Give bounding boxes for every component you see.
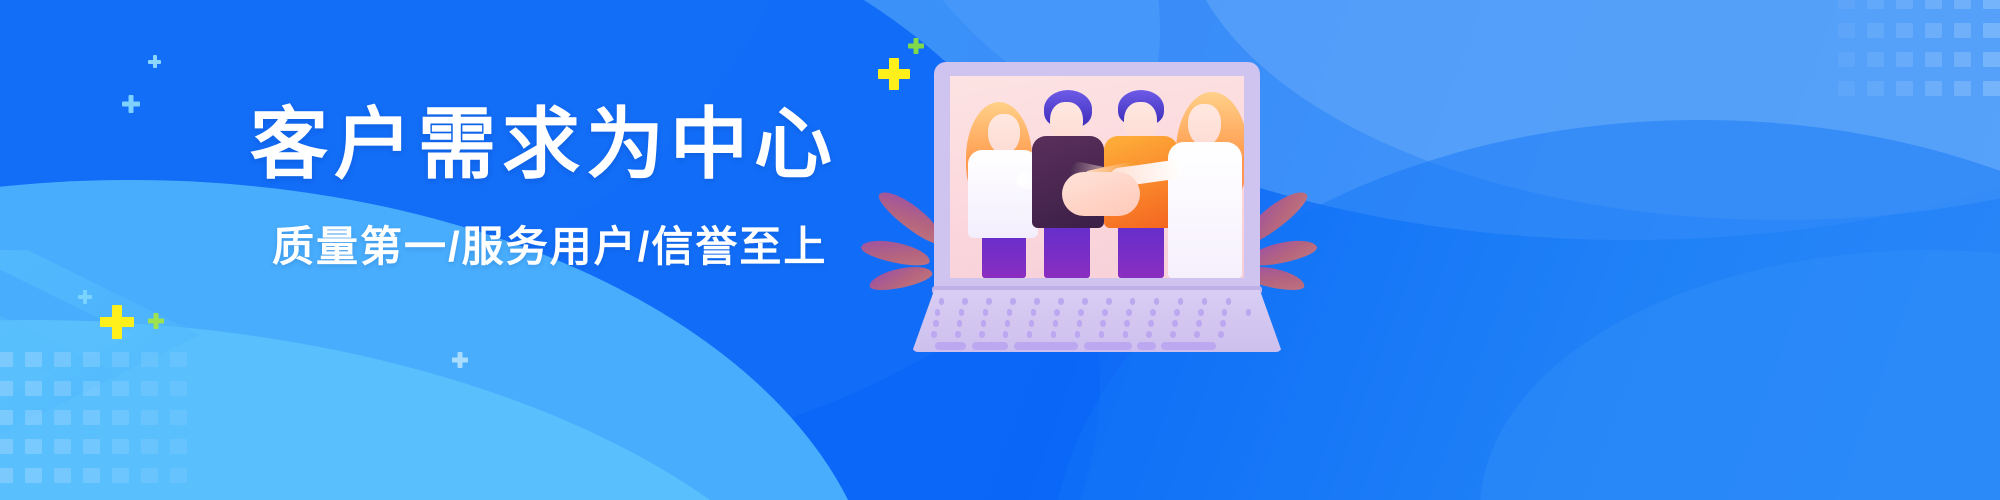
keyboard-key <box>935 342 966 350</box>
cyan-plus-icon <box>122 95 140 113</box>
keyboard-key <box>1106 298 1112 305</box>
keyboard-key <box>1174 309 1180 316</box>
keyboard-key <box>1099 331 1105 338</box>
person-woman-right <box>1162 82 1244 278</box>
keyboard-key <box>983 309 989 316</box>
keyboard-key <box>972 342 1009 350</box>
keyboard-key <box>981 320 987 327</box>
laptop-screen <box>950 76 1244 278</box>
keyboard-key <box>1161 342 1216 350</box>
keyboard-key <box>1130 298 1136 305</box>
yellow-plus-icon <box>100 305 134 339</box>
keyboard-key <box>1075 331 1081 338</box>
keyboard-key <box>1194 331 1200 338</box>
keyboard-key <box>1123 331 1129 338</box>
stacked-hands <box>1062 172 1140 216</box>
keyboard-key <box>1126 309 1132 316</box>
keyboard-key <box>979 331 985 338</box>
keyboard-key <box>1178 298 1184 305</box>
keyboard-key <box>1027 331 1033 338</box>
blue-wave-shape <box>1480 250 2000 500</box>
keyboard-key <box>1222 309 1228 316</box>
light-plus-icon <box>452 352 468 368</box>
keyboard-key <box>935 309 941 316</box>
banner-headline: 客户需求为中心 <box>250 105 1010 183</box>
keyboard-key <box>1154 298 1160 305</box>
keyboard-key <box>931 331 937 338</box>
keyboard-key <box>1202 298 1208 305</box>
keyboard-key <box>1172 320 1178 327</box>
square-dot-grid <box>1838 0 2000 114</box>
keyboard-key <box>1014 342 1078 350</box>
keyboard-key <box>1124 320 1130 327</box>
keyboard-key <box>1148 320 1154 327</box>
keyboard-key <box>1031 309 1037 316</box>
person-face <box>988 114 1020 154</box>
keyboard-key <box>1196 320 1202 327</box>
square-dot-grid <box>0 352 196 500</box>
keyboard-key <box>939 298 945 305</box>
laptop-keyboard <box>912 290 1282 352</box>
keyboard-key <box>1005 320 1011 327</box>
keyboard-key <box>1034 298 1040 305</box>
keyboard-key <box>1084 342 1132 350</box>
keyboard-key <box>1150 309 1156 316</box>
cyan-plus-icon <box>148 55 161 68</box>
green-plus-icon <box>908 38 924 54</box>
keyboard-key <box>957 320 963 327</box>
keyboard-key <box>1082 298 1088 305</box>
keyboard-key <box>1226 298 1232 305</box>
keyboard-key <box>1246 309 1252 316</box>
laptop-lid <box>934 62 1260 292</box>
keyboard-key <box>1003 331 1009 338</box>
yellow-plus-icon <box>878 58 910 90</box>
keyboard-key <box>959 309 965 316</box>
keyboard-key <box>1053 320 1059 327</box>
keyboard-key <box>986 298 992 305</box>
keyboard-key <box>1218 331 1224 338</box>
keyboard-key <box>1078 309 1084 316</box>
keyboard-key <box>1010 298 1016 305</box>
keyboard-key <box>1100 320 1106 327</box>
keyboard-key <box>1054 309 1060 316</box>
person-face <box>1188 104 1221 146</box>
green-plus-icon <box>148 313 164 329</box>
keyboard-key <box>933 320 939 327</box>
cyan-plus-icon <box>78 290 92 304</box>
keyboard-key <box>1051 331 1057 338</box>
keyboard-key <box>1146 331 1152 338</box>
keyboard-key <box>1058 298 1064 305</box>
keyboard-key <box>1198 309 1204 316</box>
keyboard-key <box>955 331 961 338</box>
keyboard-key <box>1220 320 1226 327</box>
keyboard-key <box>1102 309 1108 316</box>
keyboard-key <box>1029 320 1035 327</box>
keyboard-key <box>1170 331 1176 338</box>
keyboard-key <box>1077 320 1083 327</box>
keyboard-key <box>1137 342 1155 350</box>
promo-banner: 客户需求为中心 质量第一/服务用户/信誉至上 <box>0 0 2000 500</box>
laptop-illustration <box>912 62 1282 352</box>
keyboard-key <box>962 298 968 305</box>
keyboard-key <box>1007 309 1013 316</box>
